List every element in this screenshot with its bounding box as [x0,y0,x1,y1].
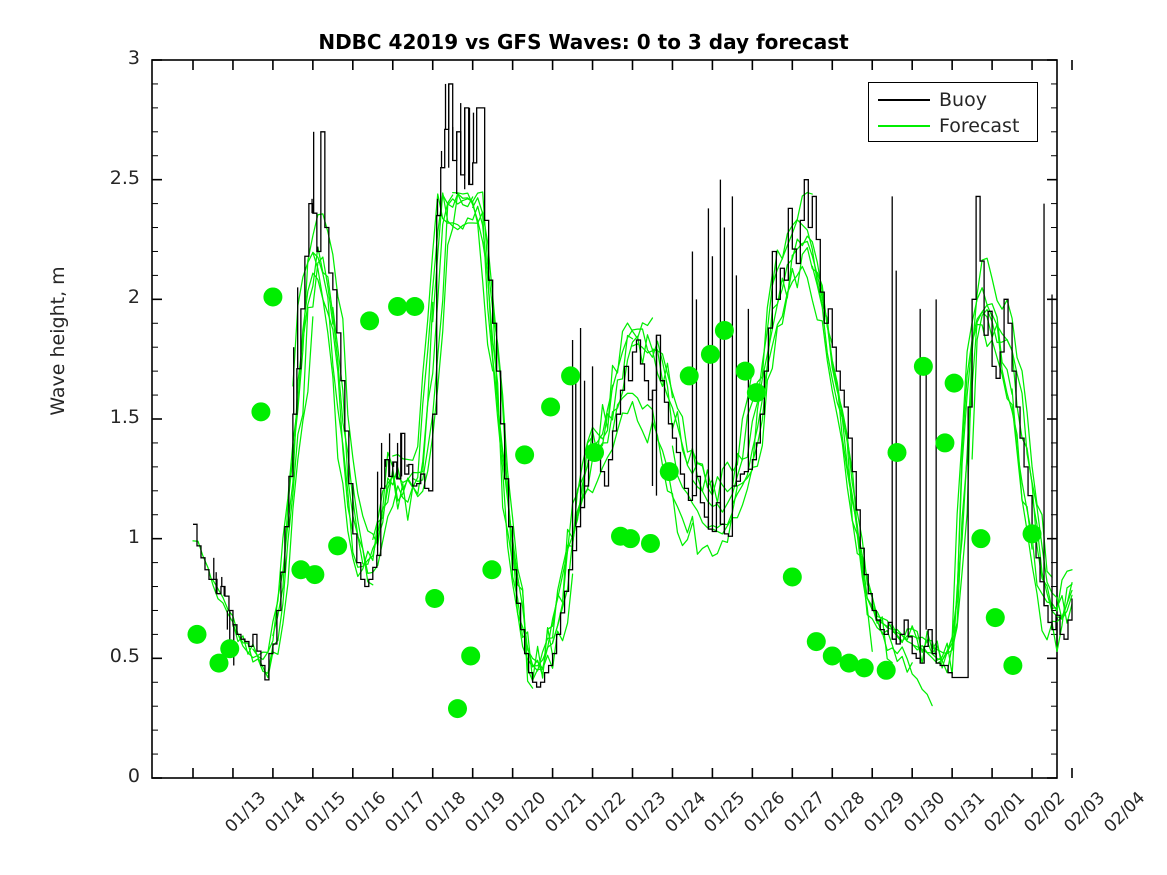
chart-legend: BuoyForecast [868,82,1038,142]
forecast-marker-point [251,402,270,421]
forecast-marker-point [388,297,407,316]
forecast-marker-point [482,560,501,579]
chart-figure: NDBC 42019 vs GFS Waves: 0 to 3 day fore… [0,0,1167,875]
forecast-series-line [453,193,573,681]
y-tick-label: 1 [80,526,140,548]
legend-line-swatch [878,125,930,127]
forecast-marker-point [641,534,660,553]
y-tick-label: 2 [80,286,140,308]
forecast-marker-point [701,345,720,364]
forecast-series-line [413,192,533,688]
forecast-marker-point [807,632,826,651]
forecast-marker-point [405,297,424,316]
forecast-marker-point [305,565,324,584]
forecast-marker-point [986,608,1005,627]
forecast-series-line [253,247,373,659]
forecast-marker-point [360,311,379,330]
forecast-marker-point [783,567,802,586]
forecast-marker-point [561,366,580,385]
forecast-marker-point [1003,656,1022,675]
legend-entry-forecast: Forecast [869,113,1037,139]
forecast-series-line [752,266,872,651]
forecast-marker-point [660,462,679,481]
forecast-marker-point [736,362,755,381]
forecast-marker-point [328,536,347,555]
forecast-marker-point [877,661,896,680]
forecast-marker-point [263,287,282,306]
forecast-marker-point [585,443,604,462]
legend-label: Buoy [939,89,987,111]
forecast-marker-point [914,357,933,376]
legend-label: Forecast [939,115,1019,137]
forecast-marker-point [461,646,480,665]
forecast-series-line [493,301,613,671]
forecast-series-line [872,288,992,660]
y-tick-label: 0 [80,765,140,787]
y-tick-label: 1.5 [80,406,140,428]
forecast-series-line [433,193,553,681]
forecast-marker-point [855,658,874,677]
y-tick-label: 3 [80,47,140,69]
forecast-marker-point [188,625,207,644]
forecast-marker-point [515,445,534,464]
forecast-marker-point [1023,524,1042,543]
forecast-series-line [353,194,473,574]
forecast-marker-point [888,443,907,462]
forecast-marker-point [541,398,560,417]
forecast-marker-point [747,383,766,402]
legend-line-swatch [878,99,930,101]
forecast-marker-point [680,366,699,385]
forecast-marker-point [935,433,954,452]
forecast-marker-point [220,639,239,658]
forecast-marker-point [823,646,842,665]
forecast-marker-point [971,529,990,548]
forecast-marker-point [715,321,734,340]
forecast-series-line [952,324,1072,651]
forecast-marker-point [945,374,964,393]
forecast-series-line [193,317,313,678]
forecast-marker-point [448,699,467,718]
forecast-series-line [812,266,932,705]
forecast-marker-point [425,589,444,608]
y-tick-label: 2.5 [80,167,140,189]
forecast-marker-point [621,529,640,548]
buoy-series-line [193,84,1072,687]
forecast-series-line [333,195,453,564]
axes-frame-rect [152,60,1057,778]
y-tick-label: 0.5 [80,645,140,667]
legend-entry-buoy: Buoy [869,87,1037,113]
